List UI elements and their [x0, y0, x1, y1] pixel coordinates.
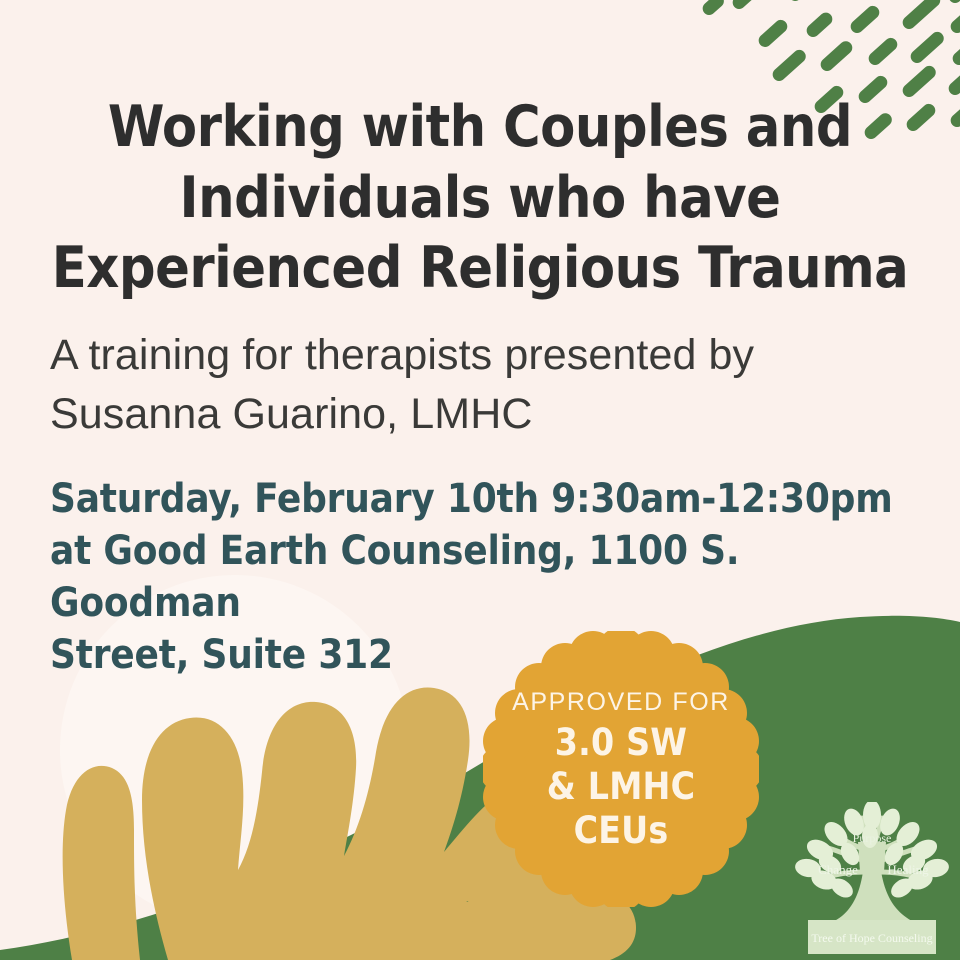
tree-of-hope-logo: Purpose Change Healing Tree of Hope Coun…: [784, 802, 960, 960]
badge-text-stack: APPROVED FOR 3.0 SW & LMHC CEUs: [483, 631, 759, 907]
subtitle: A training for therapists presented by S…: [0, 304, 960, 445]
headline-line-3: Experienced Religious Trauma: [52, 235, 908, 301]
headline-line-2: Individuals who have: [180, 165, 781, 231]
logo-name-text: Tree of Hope Counseling: [811, 931, 932, 945]
poster-text-content: Working with Couples and Individuals who…: [0, 0, 960, 681]
poster-canvas: Working with Couples and Individuals who…: [0, 0, 960, 960]
badge-approved-for-label: APPROVED FOR: [512, 690, 730, 715]
subtitle-line-2: Susanna Guarino, LMHC: [50, 390, 533, 438]
badge-lmhc-credits: & LMHC: [547, 768, 695, 805]
logo-label-change: Change: [818, 862, 858, 877]
event-details-line-2: at Good Earth Counseling, 1100 S. Goodma…: [50, 528, 739, 626]
headline-line-1: Working with Couples and: [108, 94, 852, 160]
event-details-line-3: Street, Suite 312: [50, 632, 393, 678]
tree-icon: Purpose Change Healing Tree of Hope Coun…: [784, 802, 960, 960]
logo-label-purpose: Purpose: [853, 831, 892, 845]
event-details-line-1: Saturday, February 10th 9:30am-12:30pm: [50, 476, 893, 522]
badge-sw-credits: 3.0 SW: [555, 724, 687, 761]
logo-label-healing: Healing: [887, 862, 929, 877]
event-details: Saturday, February 10th 9:30am-12:30pm a…: [0, 445, 960, 681]
ceu-approval-badge: APPROVED FOR 3.0 SW & LMHC CEUs: [483, 631, 759, 907]
subtitle-line-1: A training for therapists presented by: [50, 331, 754, 379]
page-title: Working with Couples and Individuals who…: [0, 0, 960, 304]
badge-ceus-label: CEUs: [574, 812, 669, 849]
